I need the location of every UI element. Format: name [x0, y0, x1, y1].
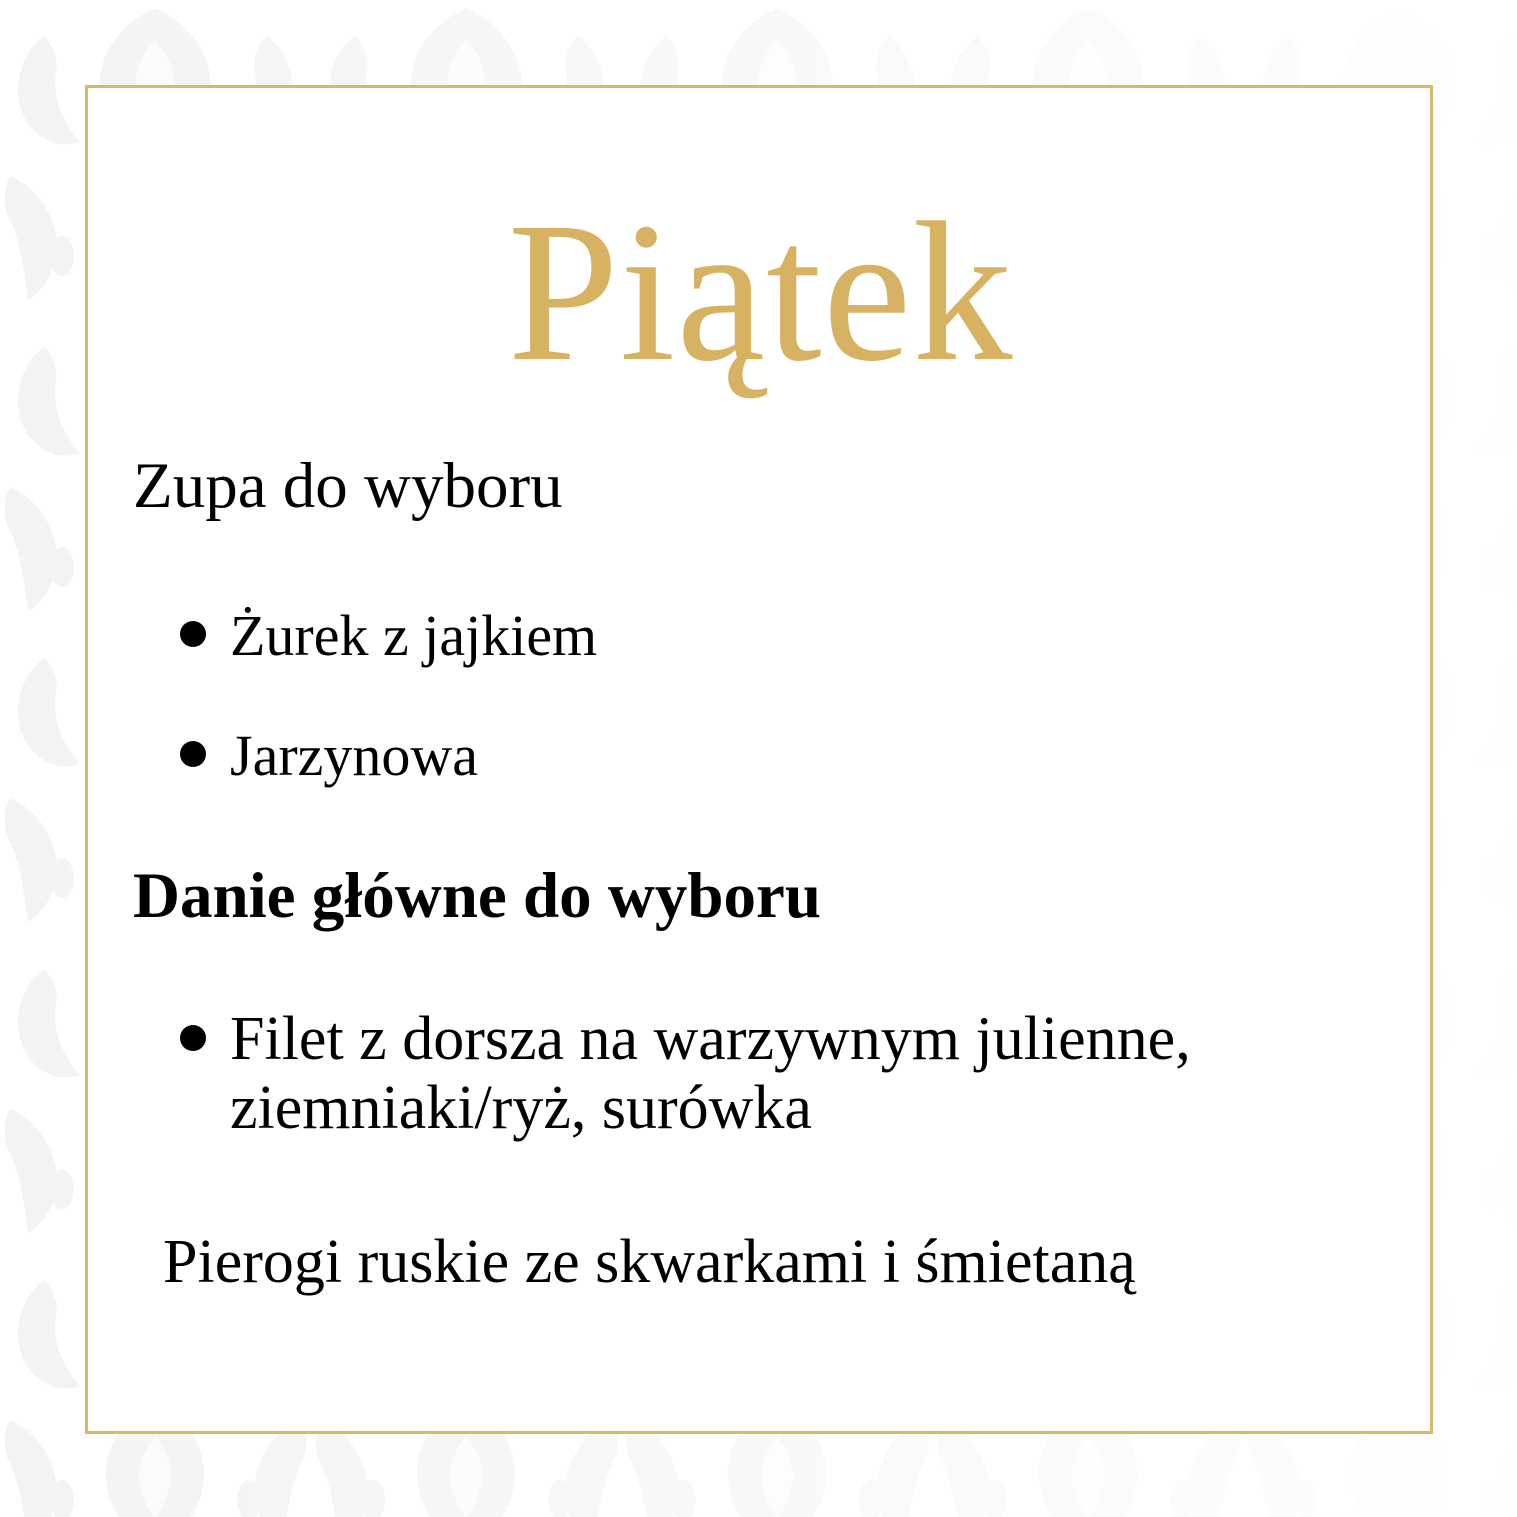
list-item-label: Pierogi ruskie ze skwarkami i śmietaną: [163, 1228, 1423, 1296]
bullet-dot-icon: [180, 741, 206, 767]
list-item: Żurek z jajkiem: [180, 605, 1330, 668]
menu-card-canvas: Piątek Zupa do wyboru Żurek z jajkiem Ja…: [0, 0, 1517, 1517]
bullet-dot-icon: [180, 621, 206, 647]
list-item-label: Filet z dorsza na warzywnym julienne, zi…: [230, 1005, 1395, 1144]
list-item-label: Jarzynowa: [230, 725, 1330, 788]
section-heading-soup: Zupa do wyboru: [133, 452, 563, 520]
menu-content: Piątek Zupa do wyboru Żurek z jajkiem Ja…: [0, 0, 1517, 1517]
section-heading-main-course: Danie główne do wyboru: [133, 862, 821, 930]
menu-day-title: Piątek: [88, 193, 1433, 393]
list-item: Jarzynowa: [180, 725, 1330, 788]
list-item-label: Żurek z jajkiem: [230, 605, 1330, 668]
bullet-dot-icon: [180, 1025, 206, 1051]
list-item: Filet z dorsza na warzywnym julienne, zi…: [180, 1005, 1395, 1144]
